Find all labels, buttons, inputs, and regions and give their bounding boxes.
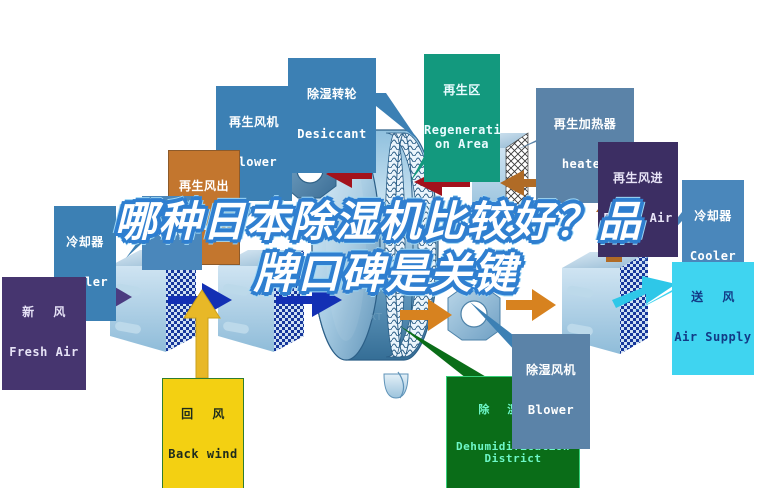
label-regeneration-intake-en: Fresh Air: [598, 212, 678, 225]
label-regeneration-area-en: Regenerati on Area: [424, 124, 500, 151]
label-cooler-left-back-cn: 冷却器: [142, 226, 202, 239]
label-regeneration-exhaust-cn: 再生风出: [169, 180, 239, 193]
label-regeneration-blower-cn: 再生风机: [216, 116, 292, 129]
label-air-supply-cn: 送 风: [672, 291, 754, 304]
label-fresh-air-intake[interactable]: 新 风 Fresh Air: [2, 277, 86, 390]
label-back-wind-cn: 回 风: [163, 408, 243, 421]
label-dehumidification-blower-cn: 除湿风机: [512, 364, 590, 377]
dehumidification-blower-fan: [448, 288, 500, 340]
label-regeneration-area-cn: 再生区: [424, 84, 500, 97]
label-dehumidification-blower[interactable]: 除湿风机 Blower: [512, 334, 590, 449]
label-cooler-right-cn: 冷却器: [682, 210, 744, 223]
dehumidifier-principle-diagram: XT: [0, 0, 757, 488]
label-air-supply-en: Air Supply: [672, 331, 754, 344]
arrow-dehumidified-air-2: [506, 289, 556, 321]
label-regeneration-area[interactable]: 再生区 Regenerati on Area: [424, 54, 500, 182]
label-regeneration-intake[interactable]: 再生风进 Fresh Air: [598, 142, 678, 257]
label-back-wind[interactable]: 回 风 Back wind: [162, 378, 244, 488]
label-cooler-left-front-cn: 冷却器: [54, 236, 116, 249]
label-back-wind-en: Back wind: [163, 448, 243, 461]
label-fresh-air-intake-en: Fresh Air: [2, 346, 86, 359]
label-desiccant-wheel-en: Desiccant: [288, 128, 376, 141]
label-fresh-air-intake-cn: 新 风: [2, 306, 86, 319]
label-desiccant-wheel-cn: 除湿转轮: [288, 88, 376, 101]
label-dehumidification-blower-en: Blower: [512, 404, 590, 417]
label-air-supply[interactable]: 送 风 Air Supply: [672, 262, 754, 375]
label-regeneration-intake-cn: 再生风进: [598, 172, 678, 185]
svg-text:XT: XT: [370, 312, 382, 323]
condensate-tray: [384, 372, 408, 398]
label-regeneration-heater-cn: 再生加热器: [536, 118, 634, 131]
label-desiccant-wheel[interactable]: 除湿转轮 Desiccant: [288, 58, 376, 173]
label-cooler-left-back[interactable]: 冷却器: [142, 196, 202, 270]
